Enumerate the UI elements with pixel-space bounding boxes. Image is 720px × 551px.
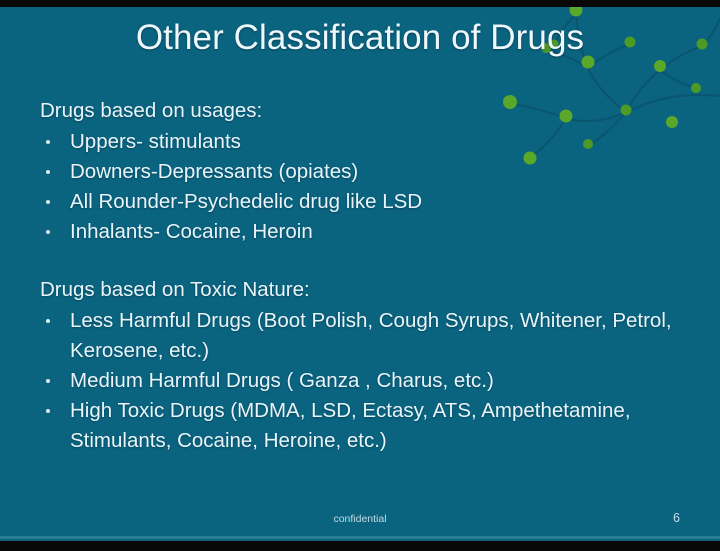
bottom-letterbox-band <box>0 541 720 551</box>
slide-title: Other Classification of Drugs <box>0 18 720 58</box>
list-item: Less Harmful Drugs (Boot Polish, Cough S… <box>40 306 690 366</box>
footer-page-number: 6 <box>673 511 680 525</box>
bottom-hairline-divider <box>0 536 720 539</box>
section-spacer <box>40 247 690 275</box>
list-item-label: Inhalants- Cocaine, Heroin <box>70 220 313 243</box>
bullet-dot-icon <box>46 140 50 144</box>
slide-body: Drugs based on usages: Uppers- stimulant… <box>40 96 690 456</box>
bullet-dot-icon <box>46 230 50 234</box>
bullet-dot-icon <box>46 319 50 323</box>
top-letterbox-band <box>0 0 720 7</box>
bullet-list-toxic-nature: Less Harmful Drugs (Boot Polish, Cough S… <box>40 306 690 456</box>
list-item-label: Less Harmful Drugs (Boot Polish, Cough S… <box>70 309 672 362</box>
bullet-dot-icon <box>46 409 50 413</box>
slide-content: Other Classification of Drugs Drugs base… <box>0 0 720 551</box>
bullet-dot-icon <box>46 170 50 174</box>
list-item-label: High Toxic Drugs (MDMA, LSD, Ectasy, ATS… <box>70 399 631 452</box>
list-item: Inhalants- Cocaine, Heroin <box>40 217 690 247</box>
list-item: High Toxic Drugs (MDMA, LSD, Ectasy, ATS… <box>40 396 690 456</box>
list-item-label: All Rounder-Psychedelic drug like LSD <box>70 190 422 213</box>
footer-confidentiality-note: confidential <box>0 513 720 525</box>
bullet-dot-icon <box>46 379 50 383</box>
bullet-list-usages: Uppers- stimulants Downers-Depressants (… <box>40 127 690 247</box>
presentation-slide: Other Classification of Drugs Drugs base… <box>0 0 720 551</box>
section-heading-toxic-nature: Drugs based on Toxic Nature: <box>40 275 690 305</box>
bullet-dot-icon <box>46 200 50 204</box>
section-heading-usages: Drugs based on usages: <box>40 96 690 126</box>
list-item-label: Uppers- stimulants <box>70 130 241 153</box>
list-item: Uppers- stimulants <box>40 127 690 157</box>
list-item: Medium Harmful Drugs ( Ganza , Charus, e… <box>40 366 690 396</box>
list-item: All Rounder-Psychedelic drug like LSD <box>40 187 690 217</box>
list-item-label: Medium Harmful Drugs ( Ganza , Charus, e… <box>70 369 494 392</box>
list-item-label: Downers-Depressants (opiates) <box>70 160 358 183</box>
list-item: Downers-Depressants (opiates) <box>40 157 690 187</box>
